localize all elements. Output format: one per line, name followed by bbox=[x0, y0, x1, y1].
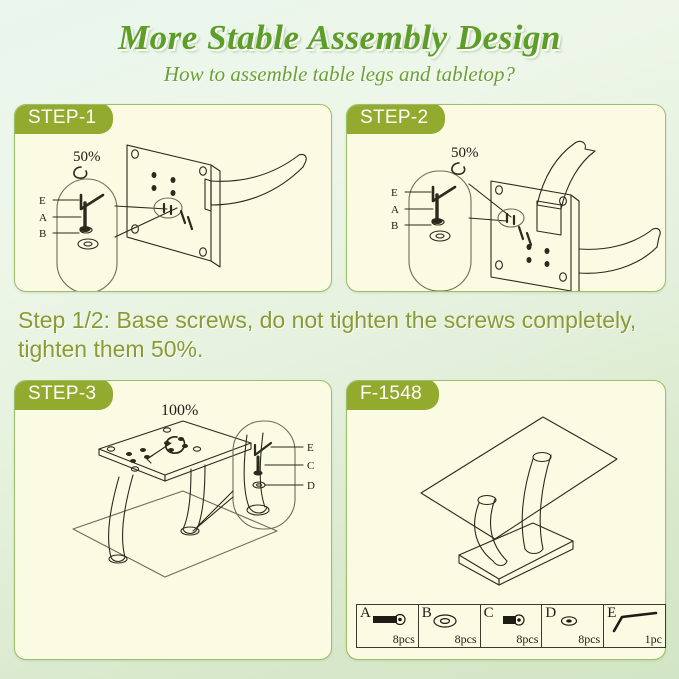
part-qty-a: 8pcs bbox=[393, 632, 415, 647]
callout-label-e: E bbox=[307, 442, 314, 454]
part-qty-e: 1pc bbox=[645, 632, 662, 647]
callout-label-d: D bbox=[307, 480, 315, 492]
torque-label: 50% bbox=[451, 145, 479, 161]
callout-label-e: E bbox=[391, 187, 398, 199]
callout-label-e: E bbox=[39, 195, 46, 207]
panel-step-2: E A B 50% STEP-2 bbox=[346, 104, 666, 292]
badge-step-2: STEP-2 bbox=[346, 104, 445, 134]
callout-label-c: C bbox=[307, 460, 314, 472]
allen-key-icon bbox=[604, 605, 666, 635]
instruction-text-middle: Step 1/2: Base screws, do not tighten th… bbox=[18, 306, 668, 365]
parts-cell-b: B 8pcs bbox=[419, 605, 481, 647]
long-bolt-icon bbox=[357, 605, 419, 635]
torque-label: 100% bbox=[161, 402, 198, 419]
instruction-sheet: More Stable Assembly Design How to assem… bbox=[0, 0, 679, 679]
short-bolt-icon bbox=[481, 605, 543, 635]
callout-label-b: B bbox=[391, 220, 398, 232]
badge-product: F-1548 bbox=[346, 380, 439, 410]
part-qty-d: 8pcs bbox=[578, 632, 600, 647]
badge-step-1: STEP-1 bbox=[14, 104, 113, 134]
parts-cell-d: D 8pcs bbox=[542, 605, 604, 647]
parts-cell-e: E 1pc bbox=[604, 605, 665, 647]
page-title: More Stable Assembly Design bbox=[0, 18, 679, 58]
page-subtitle: How to assemble table legs and tabletop? bbox=[0, 62, 679, 87]
part-qty-b: 8pcs bbox=[455, 632, 477, 647]
large-washer-icon bbox=[419, 605, 481, 635]
parts-cell-a: A 8pcs bbox=[357, 605, 419, 647]
callout-label-a: A bbox=[39, 212, 47, 224]
torque-label: 50% bbox=[73, 149, 101, 165]
small-washer-icon bbox=[542, 605, 604, 635]
callout-label-b: B bbox=[39, 228, 46, 240]
panel-step-1: E A B 50% STEP-1 bbox=[14, 104, 332, 292]
panel-step-3: E C D 100% STEP-3 Step 3： After assembli… bbox=[14, 380, 332, 660]
parts-cell-c: C 8pcs bbox=[481, 605, 543, 647]
parts-list-table: A 8pcs B 8pcs C 8pcs bbox=[356, 604, 666, 648]
part-qty-c: 8pcs bbox=[516, 632, 538, 647]
step3-diagram: E C D 100% bbox=[15, 381, 331, 659]
badge-step-3: STEP-3 bbox=[14, 380, 113, 410]
callout-label-a: A bbox=[391, 204, 399, 216]
